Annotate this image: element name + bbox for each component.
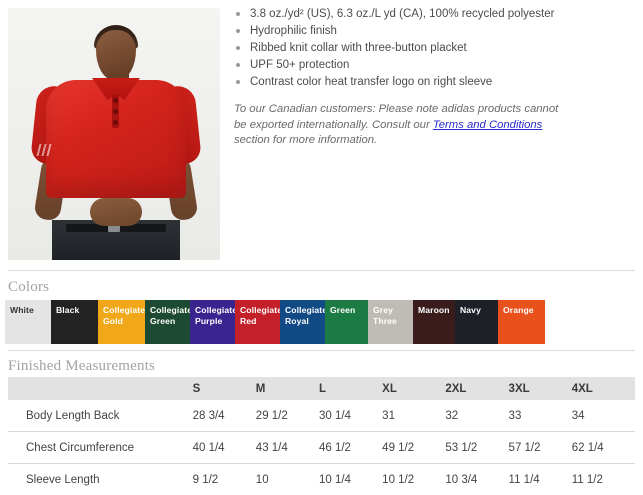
cell-value: 10 3/4 [445,464,508,495]
color-swatch-label: Navy [460,305,496,316]
color-swatch-collegiate-red[interactable]: Collegiate Red [235,300,280,344]
color-swatch-label: White [10,305,49,316]
cell-value: 9 1/2 [193,464,256,495]
bullet-icon [236,80,240,84]
color-swatch-label: Maroon [418,305,453,316]
cell-value: 62 1/4 [572,432,635,464]
color-swatch-label: Black [56,305,96,316]
list-item: UPF 50+ protection [234,57,636,74]
column-header-m: M [256,377,319,400]
row-label: Sleeve Length [8,464,193,495]
product-overview-section: 3.8 oz./yd² (US), 6.3 oz./L yd (CA), 100… [0,0,643,264]
cell-value: 31 [382,400,445,432]
spec-text: Hydrophilic finish [250,25,337,37]
cell-value: 57 1/2 [509,432,572,464]
column-header-l: L [319,377,382,400]
column-header-measurement [8,377,193,400]
color-swatch-label: Grey Three [373,305,411,327]
table-header-row: S M L XL 2XL 3XL 4XL [8,377,635,400]
table-header: S M L XL 2XL 3XL 4XL [8,377,635,400]
cell-value: 40 1/4 [193,432,256,464]
color-swatch-black[interactable]: Black [51,300,98,344]
cell-value: 34 [572,400,635,432]
cell-value: 30 1/4 [319,400,382,432]
list-item: Ribbed knit collar with three-button pla… [234,40,636,57]
color-swatch-label: Collegiate Royal [285,305,323,327]
cell-value: 11 1/4 [509,464,572,495]
spec-text: Ribbed knit collar with three-button pla… [250,42,467,54]
cell-value: 28 3/4 [193,400,256,432]
colors-heading: Colors [8,279,49,296]
bullet-icon [236,29,240,33]
polo-button-3 [113,120,118,125]
cell-value: 46 1/2 [319,432,382,464]
table-row: Body Length Back 28 3/4 29 1/2 30 1/4 31… [8,400,635,432]
spec-bullet-list: 3.8 oz./yd² (US), 6.3 oz./L yd (CA), 100… [234,6,636,91]
list-item: Hydrophilic finish [234,23,636,40]
color-swatch-maroon[interactable]: Maroon [413,300,455,344]
adidas-logo-icon [37,144,56,156]
bullet-icon [236,12,240,16]
cell-value: 29 1/2 [256,400,319,432]
color-swatch-label: Collegiate Gold [103,305,143,327]
color-swatch-collegiate-gold[interactable]: Collegiate Gold [98,300,145,344]
spec-text: 3.8 oz./yd² (US), 6.3 oz./L yd (CA), 100… [250,8,554,20]
column-header-3xl: 3XL [509,377,572,400]
cell-value: 33 [509,400,572,432]
cell-value: 10 1/2 [382,464,445,495]
measurements-section-divider [8,350,635,351]
color-swatch-label: Collegiate Green [150,305,188,327]
color-swatch-collegiate-purple[interactable]: Collegiate Purple [190,300,235,344]
colors-section-divider [8,270,635,271]
color-swatch-orange[interactable]: Orange [498,300,545,344]
table-row: Chest Circumference 40 1/4 43 1/4 46 1/2… [8,432,635,464]
row-label: Body Length Back [8,400,193,432]
list-item: 3.8 oz./yd² (US), 6.3 oz./L yd (CA), 100… [234,6,636,23]
list-item: Contrast color heat transfer logo on rig… [234,74,636,91]
cell-value: 49 1/2 [382,432,445,464]
product-specs: 3.8 oz./yd² (US), 6.3 oz./L yd (CA), 100… [234,6,636,149]
color-swatch-label: Green [330,305,366,316]
polo-button-1 [113,98,118,103]
product-image[interactable] [8,8,220,260]
bullet-icon [236,63,240,67]
color-swatch-list: White Black Collegiate Gold Collegiate G… [5,300,545,344]
measurements-heading: Finished Measurements [8,358,155,375]
cell-value: 11 1/2 [572,464,635,495]
table-body: Body Length Back 28 3/4 29 1/2 30 1/4 31… [8,400,635,495]
color-swatch-label: Orange [503,305,543,316]
polo-button-2 [113,109,118,114]
color-swatch-navy[interactable]: Navy [455,300,498,344]
canadian-customers-note: To our Canadian customers: Please note a… [234,102,564,149]
terms-and-conditions-link[interactable]: Terms and Conditions [433,119,542,131]
color-swatch-label: Collegiate Purple [195,305,233,327]
spec-text: Contrast color heat transfer logo on rig… [250,76,492,88]
column-header-s: S [193,377,256,400]
bullet-icon [236,46,240,50]
color-swatch-collegiate-green[interactable]: Collegiate Green [145,300,190,344]
cell-value: 32 [445,400,508,432]
row-label: Chest Circumference [8,432,193,464]
spec-text: UPF 50+ protection [250,59,349,71]
cell-value: 10 [256,464,319,495]
color-swatch-white[interactable]: White [5,300,51,344]
cell-value: 43 1/4 [256,432,319,464]
cell-value: 10 1/4 [319,464,382,495]
color-swatch-collegiate-royal[interactable]: Collegiate Royal [280,300,325,344]
table-row: Sleeve Length 9 1/2 10 10 1/4 10 1/2 10 … [8,464,635,495]
color-swatch-green[interactable]: Green [325,300,368,344]
color-swatch-grey-three[interactable]: Grey Three [368,300,413,344]
model-hands [90,198,142,226]
column-header-4xl: 4XL [572,377,635,400]
cell-value: 53 1/2 [445,432,508,464]
color-swatch-label: Collegiate Red [240,305,278,327]
column-header-xl: XL [382,377,445,400]
column-header-2xl: 2XL [445,377,508,400]
note-text-after: section for more information. [234,134,377,146]
finished-measurements-table: S M L XL 2XL 3XL 4XL Body Length Back 28… [8,377,635,495]
product-photo-canvas [8,8,220,260]
